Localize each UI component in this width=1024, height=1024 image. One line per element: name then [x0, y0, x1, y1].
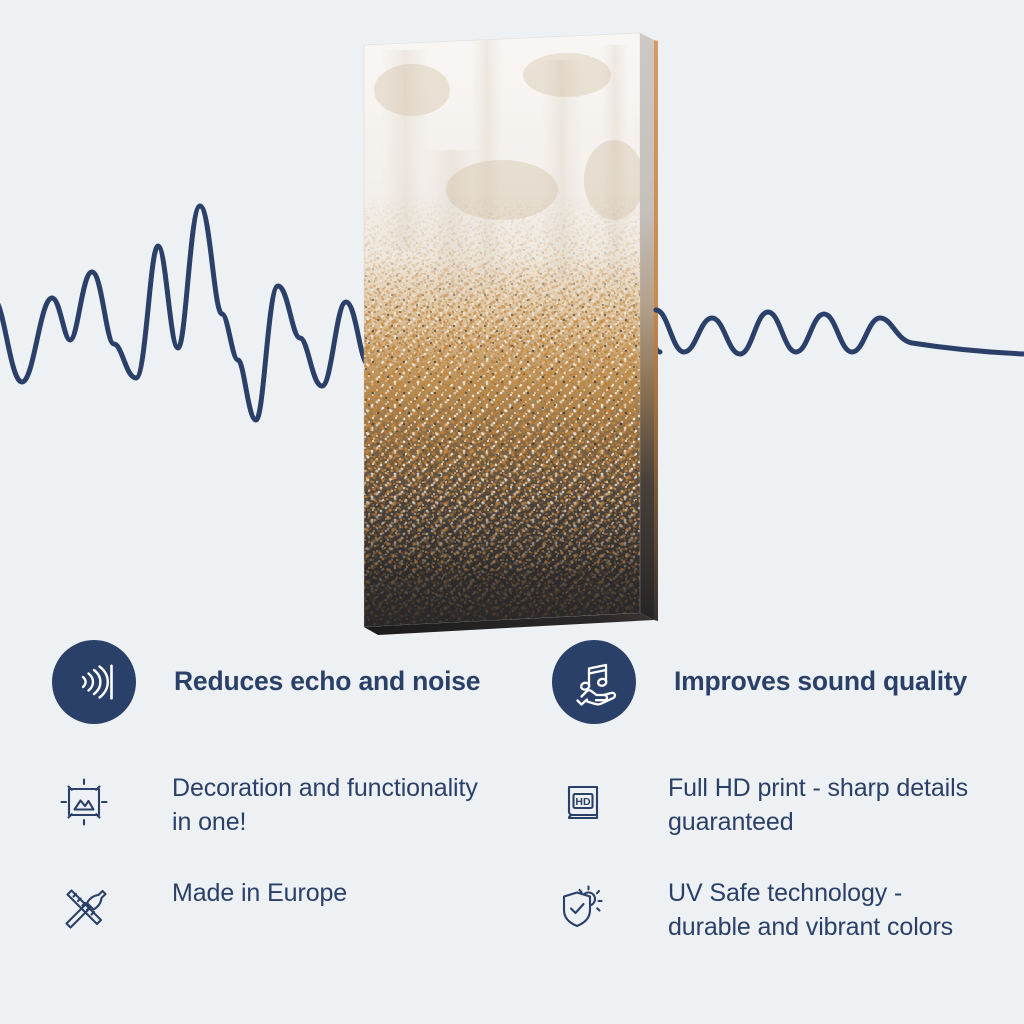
feature-badge-label: Improves sound quality	[674, 666, 967, 698]
hd-badge-text: HD	[575, 796, 591, 808]
feature-row-uv-safe: UV Safe technology - durable and vibrant…	[552, 875, 1022, 944]
feature-row-line: UV Safe technology -	[668, 877, 953, 911]
feature-list: Reduces echo and noise	[0, 634, 1024, 1024]
canvas-side-edge	[640, 33, 654, 620]
framed-picture-shine-icon	[54, 772, 114, 832]
acoustic-canvas-print	[352, 30, 672, 660]
sound-waves-panel-icon	[68, 656, 120, 708]
feature-badge-label: Reduces echo and noise	[174, 666, 480, 698]
hd-print-icon: HD	[556, 774, 612, 830]
feature-row-icon: HD	[552, 770, 616, 834]
feature-badge-reduces-echo: Reduces echo and noise	[52, 634, 522, 730]
uv-shield-sun-icon	[554, 877, 614, 937]
canvas-rim-accent	[654, 40, 658, 621]
badge-circle	[552, 640, 636, 724]
feature-row-icon	[52, 770, 116, 834]
feature-row-line: Full HD print - sharp details	[668, 772, 968, 806]
badge-circle	[52, 640, 136, 724]
ruler-hammer-icon	[54, 877, 114, 937]
feature-row-line: Decoration and functionality	[172, 772, 478, 806]
feature-row-icon	[552, 875, 616, 939]
feature-row-decoration: Decoration and functionality in one!	[52, 770, 522, 839]
feature-column-right: Improves sound quality HD Full HD pr	[552, 634, 1022, 944]
feature-row-line: Made in Europe	[172, 877, 347, 911]
feature-row-label: Made in Europe	[172, 875, 347, 911]
feature-row-line: guaranteed	[668, 806, 968, 840]
waveform-right-path	[656, 310, 1024, 354]
feature-row-label: Decoration and functionality in one!	[172, 770, 478, 839]
music-note-hand-icon	[567, 655, 621, 709]
feature-row-line: in one!	[172, 806, 478, 840]
infographic-stage: Reduces echo and noise	[0, 0, 1024, 1024]
feature-badge-improves-sound: Improves sound quality	[552, 634, 1022, 730]
feature-row-icon	[52, 875, 116, 939]
feature-row-line: durable and vibrant colors	[668, 911, 953, 945]
feature-row-label: UV Safe technology - durable and vibrant…	[668, 875, 953, 944]
feature-row-hd-print: HD Full HD print - sharp details guarant…	[552, 770, 1022, 839]
feature-row-made-in-europe: Made in Europe	[52, 875, 522, 939]
feature-row-label: Full HD print - sharp details guaranteed	[668, 770, 968, 839]
feature-column-left: Reduces echo and noise	[52, 634, 522, 939]
